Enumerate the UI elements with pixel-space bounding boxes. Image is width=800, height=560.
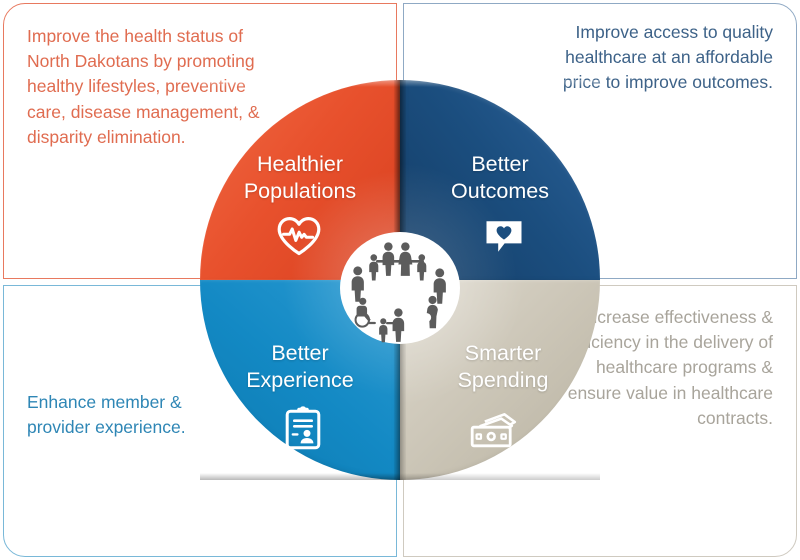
quadruple-aim-diagram: Improve the health status of North Dakot… [0, 0, 800, 560]
clipboard-person-icon [285, 406, 321, 455]
people-ring-icon [340, 232, 460, 344]
label-better-outcomes: Better Outcomes [420, 151, 580, 204]
label-healthier-populations: Healthier Populations [205, 151, 395, 204]
label-smarter-spending: Smarter Spending [418, 340, 588, 393]
heart-pulse-icon [276, 216, 322, 261]
speech-bubble-heart-icon [484, 218, 524, 261]
money-bills-icon [468, 412, 520, 455]
caption-better-experience: Enhance member & provider experience. [27, 390, 217, 440]
label-better-experience: Better Experience [205, 340, 395, 393]
